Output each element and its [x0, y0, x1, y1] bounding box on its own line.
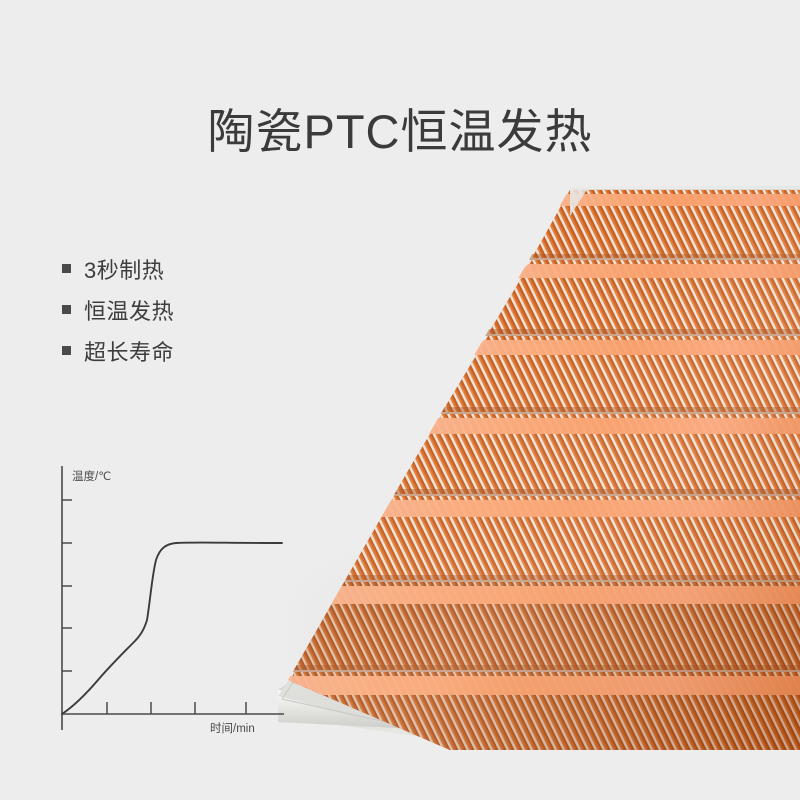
- feature-label: 超长寿命: [84, 335, 174, 367]
- product-image-heatsink: [270, 150, 800, 750]
- temperature-time-chart: 温度/℃ 时间/min: [34, 452, 304, 748]
- bullet-square-icon: [62, 305, 71, 314]
- chart-x-ticks: [107, 702, 246, 714]
- feature-label: 3秒制热: [84, 253, 164, 285]
- bullet-square-icon: [62, 264, 71, 273]
- fin-field-sheen: [288, 188, 800, 750]
- chart-curve-ptc: [62, 543, 282, 714]
- list-item: 3秒制热: [62, 248, 174, 289]
- feature-list: 3秒制热 恒温发热 超长寿命: [62, 248, 174, 371]
- page-title: 陶瓷PTC恒温发热: [0, 103, 800, 161]
- bullet-square-icon: [62, 346, 71, 355]
- list-item: 超长寿命: [62, 330, 174, 371]
- feature-label: 恒温发热: [84, 294, 174, 326]
- heatsink-illustration: [270, 150, 800, 750]
- list-item: 恒温发热: [62, 289, 174, 330]
- product-feature-poster: 陶瓷PTC恒温发热 3秒制热 恒温发热 超长寿命: [0, 0, 800, 800]
- chart-y-ticks: [62, 500, 72, 671]
- fin-row-group: [270, 188, 800, 750]
- chart-x-axis-label: 时间/min: [210, 722, 255, 735]
- chart-y-axis-label: 温度/℃: [72, 469, 111, 483]
